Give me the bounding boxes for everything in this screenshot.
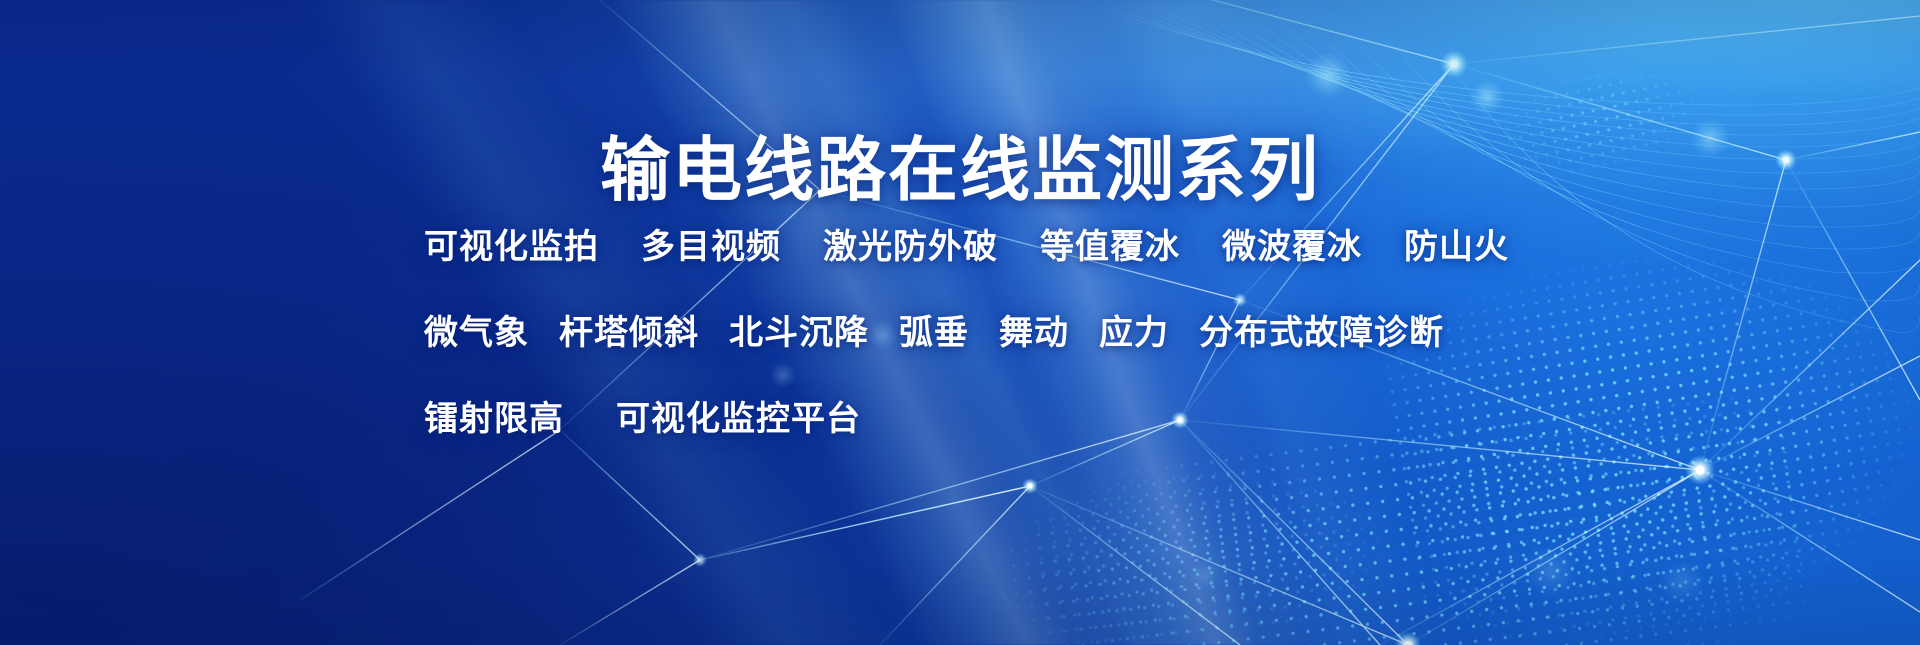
feature-list: 可视化监拍 多目视频 激光防外破 等值覆冰 微波覆冰 防山火 微气象 杆塔倾斜 … [424,204,1544,462]
feature-item[interactable]: 防山火 [1404,230,1509,264]
feature-item[interactable]: 可视化监控平台 [616,402,861,436]
feature-item[interactable]: 舞动 [999,316,1069,350]
feature-item[interactable]: 应力 [1099,316,1169,350]
feature-item[interactable]: 等值覆冰 [1040,230,1180,264]
feature-item[interactable]: 弧垂 [899,316,969,350]
feature-item[interactable]: 微气象 [424,316,529,350]
banner-headline: 输电线路在线监测系列 [0,135,1920,205]
feature-item[interactable]: 镭射限高 [424,402,564,436]
feature-item[interactable]: 微波覆冰 [1222,230,1362,264]
feature-item[interactable]: 杆塔倾斜 [559,316,699,350]
hero-banner: 输电线路在线监测系列 可视化监拍 多目视频 激光防外破 等值覆冰 微波覆冰 防山… [0,0,1920,645]
feature-row: 镭射限高 可视化监控平台 [424,376,1544,462]
feature-item[interactable]: 激光防外破 [823,230,998,264]
feature-item[interactable]: 北斗沉降 [729,316,869,350]
feature-item[interactable]: 多目视频 [641,230,781,264]
feature-row: 微气象 杆塔倾斜 北斗沉降 弧垂 舞动 应力 分布式故障诊断 [424,290,1544,376]
feature-item[interactable]: 分布式故障诊断 [1199,316,1444,350]
feature-item[interactable]: 可视化监拍 [424,230,599,264]
feature-row: 可视化监拍 多目视频 激光防外破 等值覆冰 微波覆冰 防山火 [424,204,1544,290]
